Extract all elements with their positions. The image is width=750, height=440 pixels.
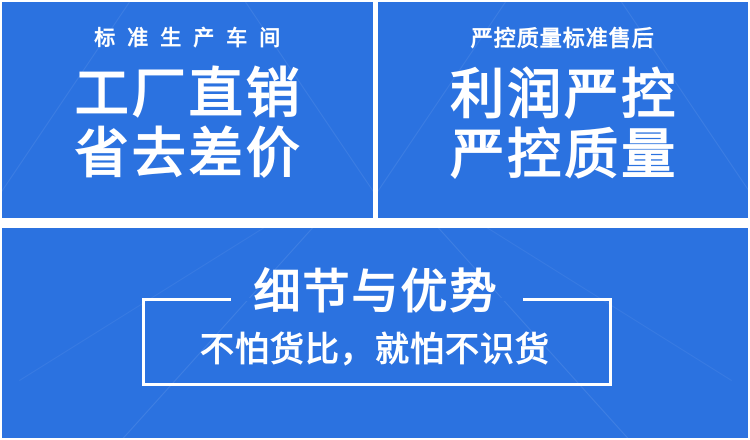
panel-factory-direct: 标准生产车间 工厂直销 省去差价	[2, 2, 373, 218]
panel-content: 严控质量标准售后 利润严控 严控质量	[378, 2, 749, 185]
panel-headline-line2-quality-control: 严控质量	[378, 126, 749, 184]
panel-content: 标准生产车间 工厂直销 省去差价	[2, 2, 373, 184]
panel-headline-line2-factory-direct: 省去差价	[2, 125, 373, 183]
feature-title: 细节与优势	[2, 268, 748, 315]
panel-details-advantages: 细节与优势 不怕货比，就怕不识货	[2, 228, 748, 438]
panel-eyebrow-quality-control: 严控质量标准售后	[378, 28, 749, 50]
feature-subtitle: 不怕货比，就怕不识货	[2, 333, 748, 367]
promo-banner: 标准生产车间 工厂直销 省去差价 严控质量标准售后 利润严控 严控质量 细节与优…	[0, 0, 750, 440]
panel-eyebrow-factory-direct: 标准生产车间	[2, 28, 373, 49]
top-panel-row: 标准生产车间 工厂直销 省去差价 严控质量标准售后 利润严控 严控质量	[2, 2, 748, 218]
panel-headline-line1-quality-control: 利润严控	[378, 66, 749, 124]
panel-headline-line1-factory-direct: 工厂直销	[2, 65, 373, 123]
panel-quality-control: 严控质量标准售后 利润严控 严控质量	[378, 2, 749, 218]
